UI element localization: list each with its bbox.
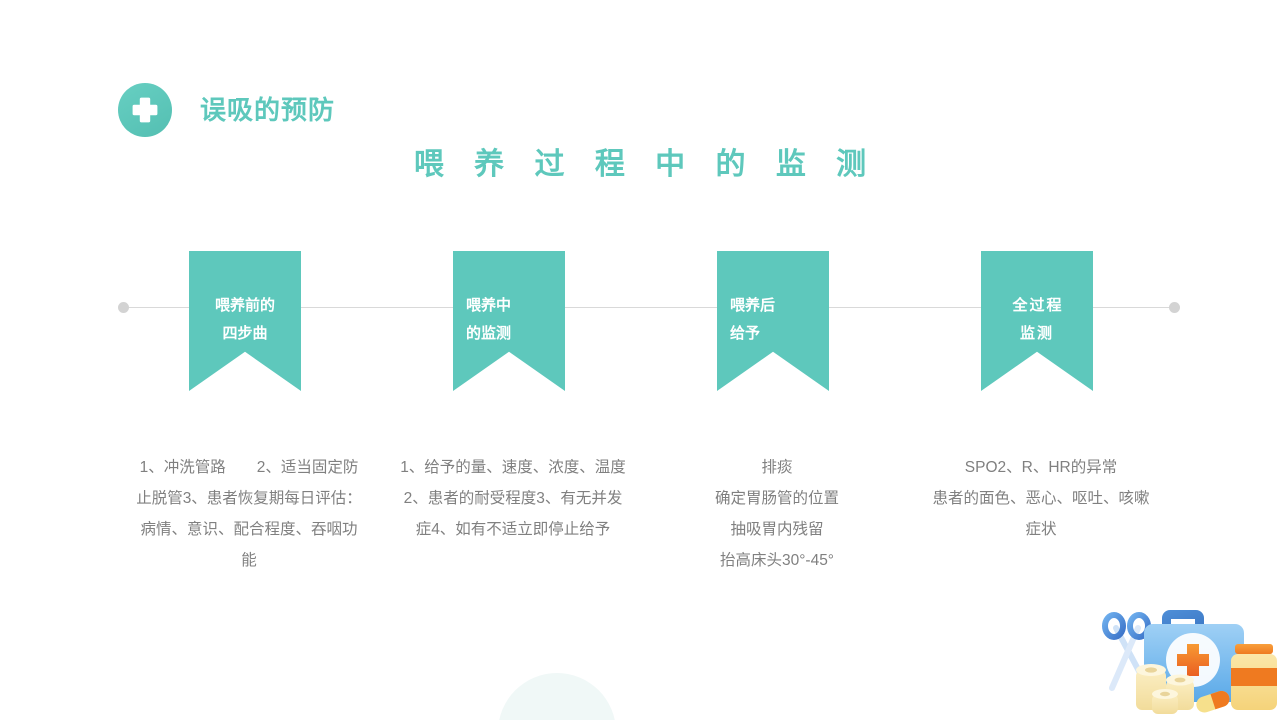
step-banner-label-3: 喂养后 给予 <box>717 292 829 348</box>
step-banner-3[interactable]: 喂养后 给予 <box>717 251 829 391</box>
medical-cross-icon <box>118 83 172 137</box>
step-banner-label-4: 全过程 监测 <box>981 292 1093 348</box>
step-banner-2[interactable]: 喂养中 的监测 <box>453 251 565 391</box>
step-description-2: 1、给予的量、速度、浓度、温度 2、患者的耐受程度3、有无并发症4、如有不适立即… <box>400 452 626 545</box>
medical-kit-illustration <box>1092 588 1280 720</box>
medicine-bottle-icon <box>1231 644 1277 710</box>
step-banner-4[interactable]: 全过程 监测 <box>981 251 1093 391</box>
main-title: 喂 养 过 程 中 的 监 测 <box>0 145 1280 185</box>
step-banner-group: 喂养前的 四步曲 喂养中 的监测 喂养后 给予 全过程 监测 <box>0 251 1280 391</box>
step-banner-label-1: 喂养前的 四步曲 <box>189 292 301 348</box>
step-banner-label-2: 喂养中 的监测 <box>453 292 565 348</box>
slide-header: 误吸的预防 <box>118 83 335 137</box>
step-description-3: 排痰 确定胃肠管的位置 抽吸胃内残留 抬高床头30°-45° <box>664 452 890 576</box>
light-mint-circle <box>498 673 616 720</box>
step-banner-1[interactable]: 喂养前的 四步曲 <box>189 251 301 391</box>
step-description-4: SPO2、R、HR的异常 患者的面色、恶心、呕吐、咳嗽症状 <box>928 452 1154 545</box>
slide-canvas: 误吸的预防 喂 养 过 程 中 的 监 测 喂养前的 四步曲 喂养中 的监测 喂… <box>0 0 1280 720</box>
step-description-1: 1、冲洗管路 2、适当固定防止脱管3、患者恢复期每日评估：病情、意识、配合程度、… <box>136 452 362 576</box>
page-title: 误吸的预防 <box>200 97 335 123</box>
